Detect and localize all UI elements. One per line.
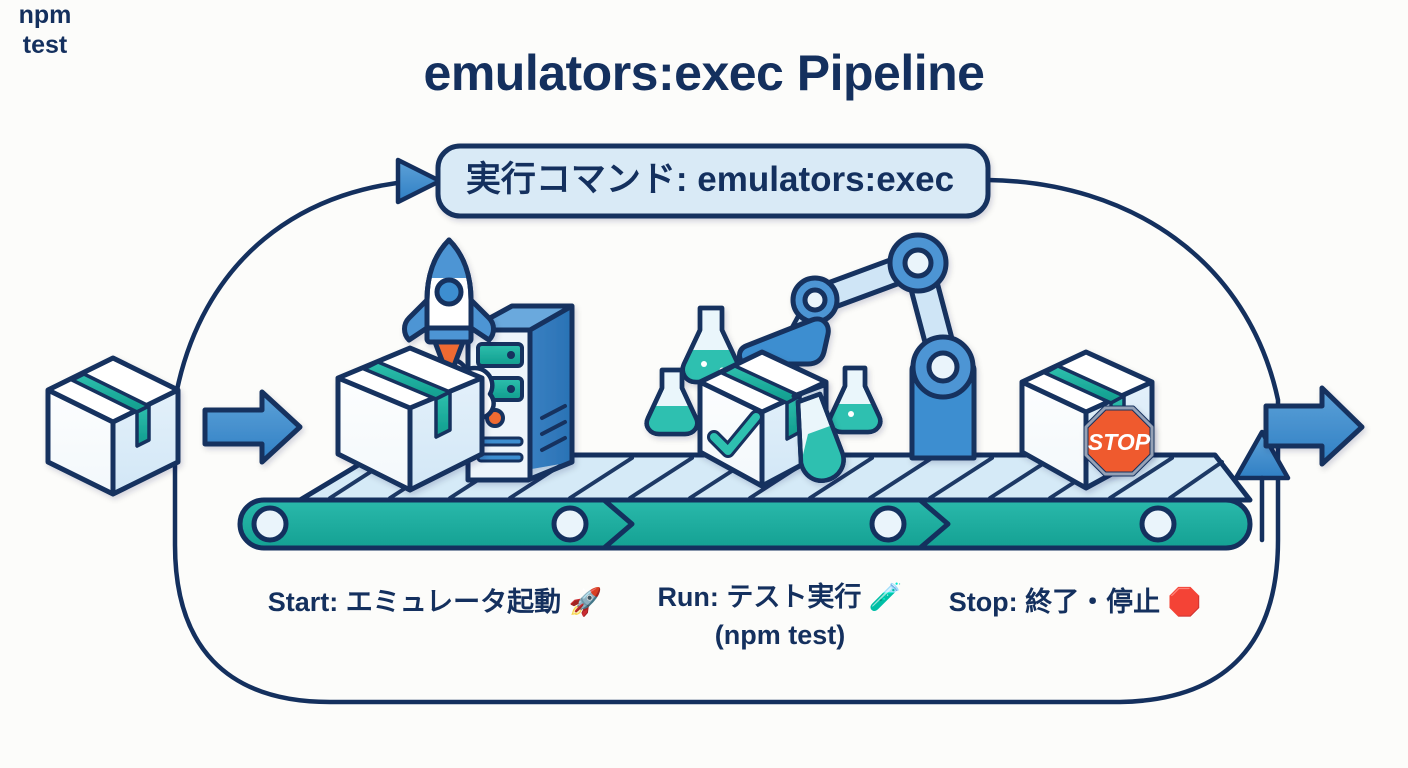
stage-run-illustration	[647, 235, 974, 486]
stage-caption-run: Run: テスト実行 🧪 (npm test)	[625, 578, 935, 654]
stage-caption-start: Start: エミュレータ起動 🚀	[235, 583, 635, 621]
stage-caption-run-line2: (npm test)	[715, 620, 846, 650]
exit-arrow-icon	[1266, 388, 1362, 464]
command-pill-label: 実行コマンド: emulators:exec	[440, 152, 980, 208]
flask-icon-3	[830, 368, 881, 432]
diagram-canvas: STOP emulators:exec Pipeline 実行コマンド: emu…	[0, 0, 1408, 768]
stage-caption-run-line1: Run: テスト実行 🧪	[657, 582, 902, 612]
stage-caption-stop: Stop: 終了・停止 🛑	[930, 583, 1220, 621]
entry-arrow-icon	[205, 392, 300, 462]
page-title: emulators:exec Pipeline	[0, 44, 1408, 102]
stop-sign-icon: STOP	[1086, 408, 1152, 474]
test-tube-icon	[794, 385, 844, 481]
stop-sign-text: STOP	[1088, 429, 1151, 455]
stage-start-illustration	[338, 240, 572, 490]
package-box-icon	[48, 358, 178, 494]
